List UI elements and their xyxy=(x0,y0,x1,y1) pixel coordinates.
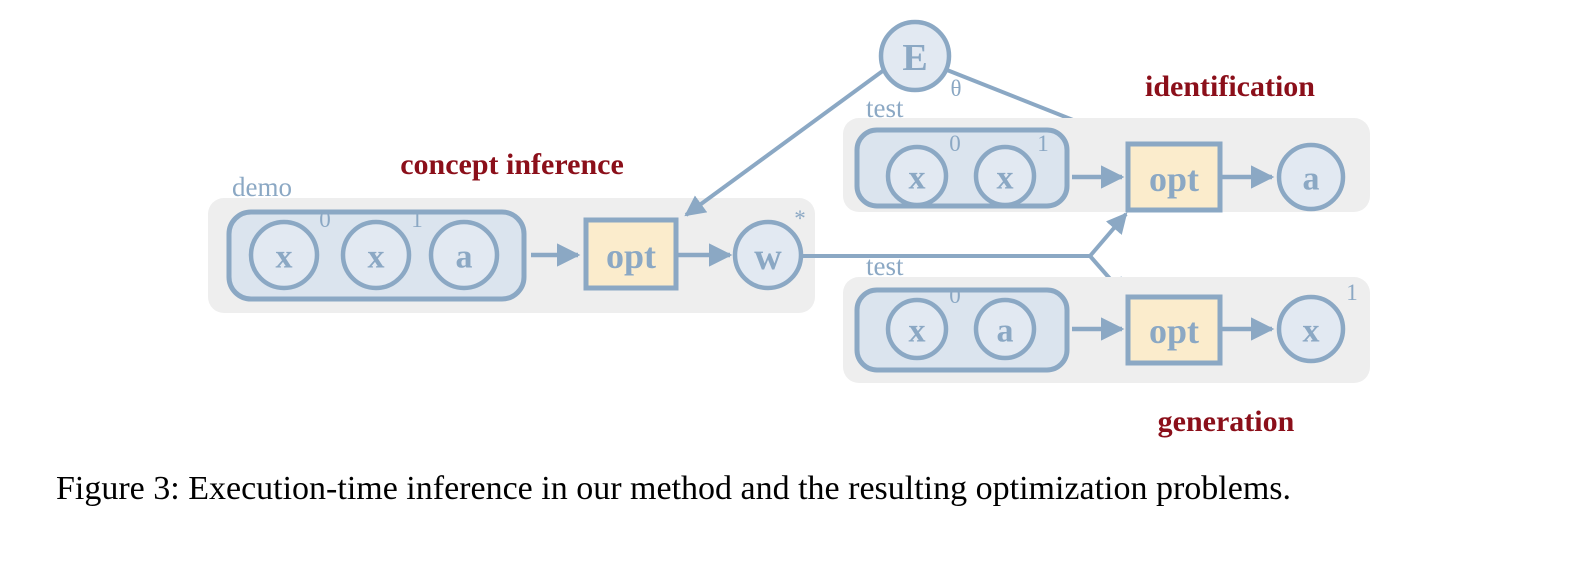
encoder-node[interactable]: E θ xyxy=(881,22,962,101)
demo-opt-label: opt xyxy=(606,236,656,276)
demo-node-x0-superscript: 0 xyxy=(319,207,331,232)
generation-panel-tag: test xyxy=(866,251,904,281)
demo-node-x1-superscript: 1 xyxy=(411,207,423,232)
demo-node-a[interactable]: a xyxy=(431,222,497,288)
encoder-subscript: θ xyxy=(950,76,961,101)
generation-node-x0-label: x xyxy=(909,313,926,350)
demo-node-a-label: a xyxy=(456,239,473,276)
test-generation-group: test x 0 a opt x 1 xyxy=(843,251,1370,383)
identification-panel-tag: test xyxy=(866,93,904,123)
demo-node-x0-label: x xyxy=(276,239,293,276)
generation-node-x0-superscript: 0 xyxy=(949,283,961,308)
generation-opt-label: opt xyxy=(1149,311,1199,351)
weights-to-identification-opt-edge xyxy=(1090,214,1126,256)
identification-opt-box[interactable]: opt xyxy=(1128,144,1220,210)
identification-opt-label: opt xyxy=(1149,159,1199,199)
identification-node-x1-superscript: 1 xyxy=(1037,131,1049,156)
figure-caption: Figure 3: Execution-time inference in ou… xyxy=(56,470,1536,508)
generation-output-superscript: 1 xyxy=(1346,280,1358,305)
stage-label-generation: generation xyxy=(1158,405,1295,438)
identification-node-x1-label: x xyxy=(997,160,1014,197)
identification-node-x0-superscript: 0 xyxy=(949,131,961,156)
inference-diagram: demo x 0 x 1 a xyxy=(0,0,1580,460)
demo-group: demo x 0 x 1 a xyxy=(208,172,815,313)
demo-panel-tag: demo xyxy=(232,172,292,202)
identification-output-label: a xyxy=(1303,161,1320,198)
demo-opt-box[interactable]: opt xyxy=(586,220,676,288)
generation-output-label: x xyxy=(1303,313,1320,350)
generation-opt-box[interactable]: opt xyxy=(1128,297,1220,363)
demo-node-x1-label: x xyxy=(368,239,385,276)
stage-label-identification: identification xyxy=(1145,70,1315,103)
identification-output-node-a[interactable]: a xyxy=(1279,145,1343,209)
stage-label-concept-inference: concept inference xyxy=(400,148,624,181)
figure-page: demo x 0 x 1 a xyxy=(0,0,1580,572)
weights-node-label: w xyxy=(754,236,782,278)
test-identification-group: test x 0 x 1 opt a xyxy=(843,93,1370,212)
weights-node-superscript: * xyxy=(794,206,806,231)
generation-node-a[interactable]: a xyxy=(976,300,1034,358)
encoder-label: E xyxy=(902,37,927,79)
generation-node-a-label: a xyxy=(997,313,1014,350)
identification-node-x0-label: x xyxy=(909,160,926,197)
